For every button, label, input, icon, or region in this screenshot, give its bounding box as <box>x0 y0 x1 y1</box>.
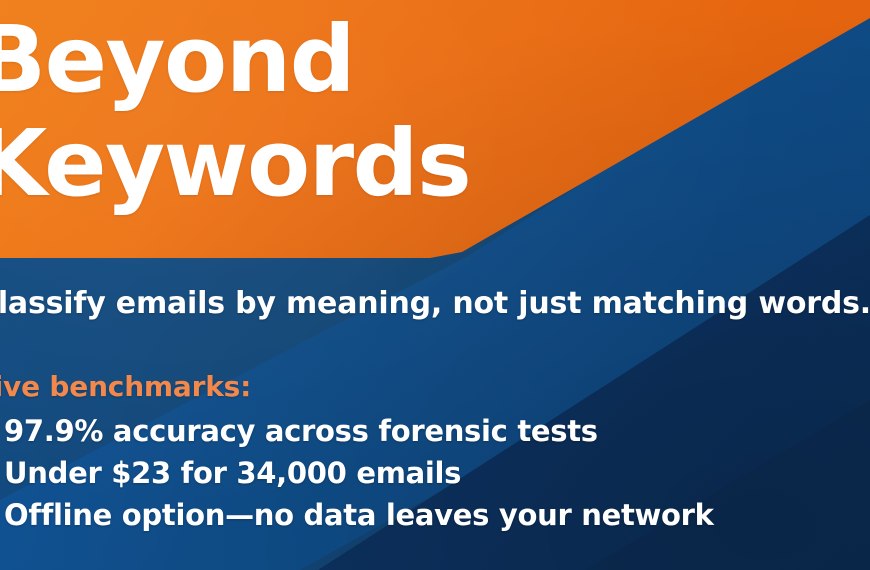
headline-line-1: Beyond <box>0 8 736 112</box>
headline: Beyond Keywords <box>0 8 736 216</box>
benchmarks-block: Live benchmarks: • 97.9% accuracy across… <box>0 368 870 536</box>
headline-line-2: Keywords <box>0 112 736 216</box>
card-content: Beyond Keywords Classify emails by meani… <box>0 0 870 570</box>
subtitle: Classify emails by meaning, not just mat… <box>0 284 870 324</box>
benchmark-item: • Offline option—no data leaves your net… <box>0 494 870 536</box>
promo-card: Beyond Keywords Classify emails by meani… <box>0 0 870 570</box>
benchmark-item: • 97.9% accuracy across forensic tests <box>0 410 870 452</box>
benchmarks-heading: Live benchmarks: <box>0 368 870 406</box>
benchmark-item: • Under $23 for 34,000 emails <box>0 452 870 494</box>
benchmarks-list: • 97.9% accuracy across forensic tests •… <box>0 410 870 536</box>
